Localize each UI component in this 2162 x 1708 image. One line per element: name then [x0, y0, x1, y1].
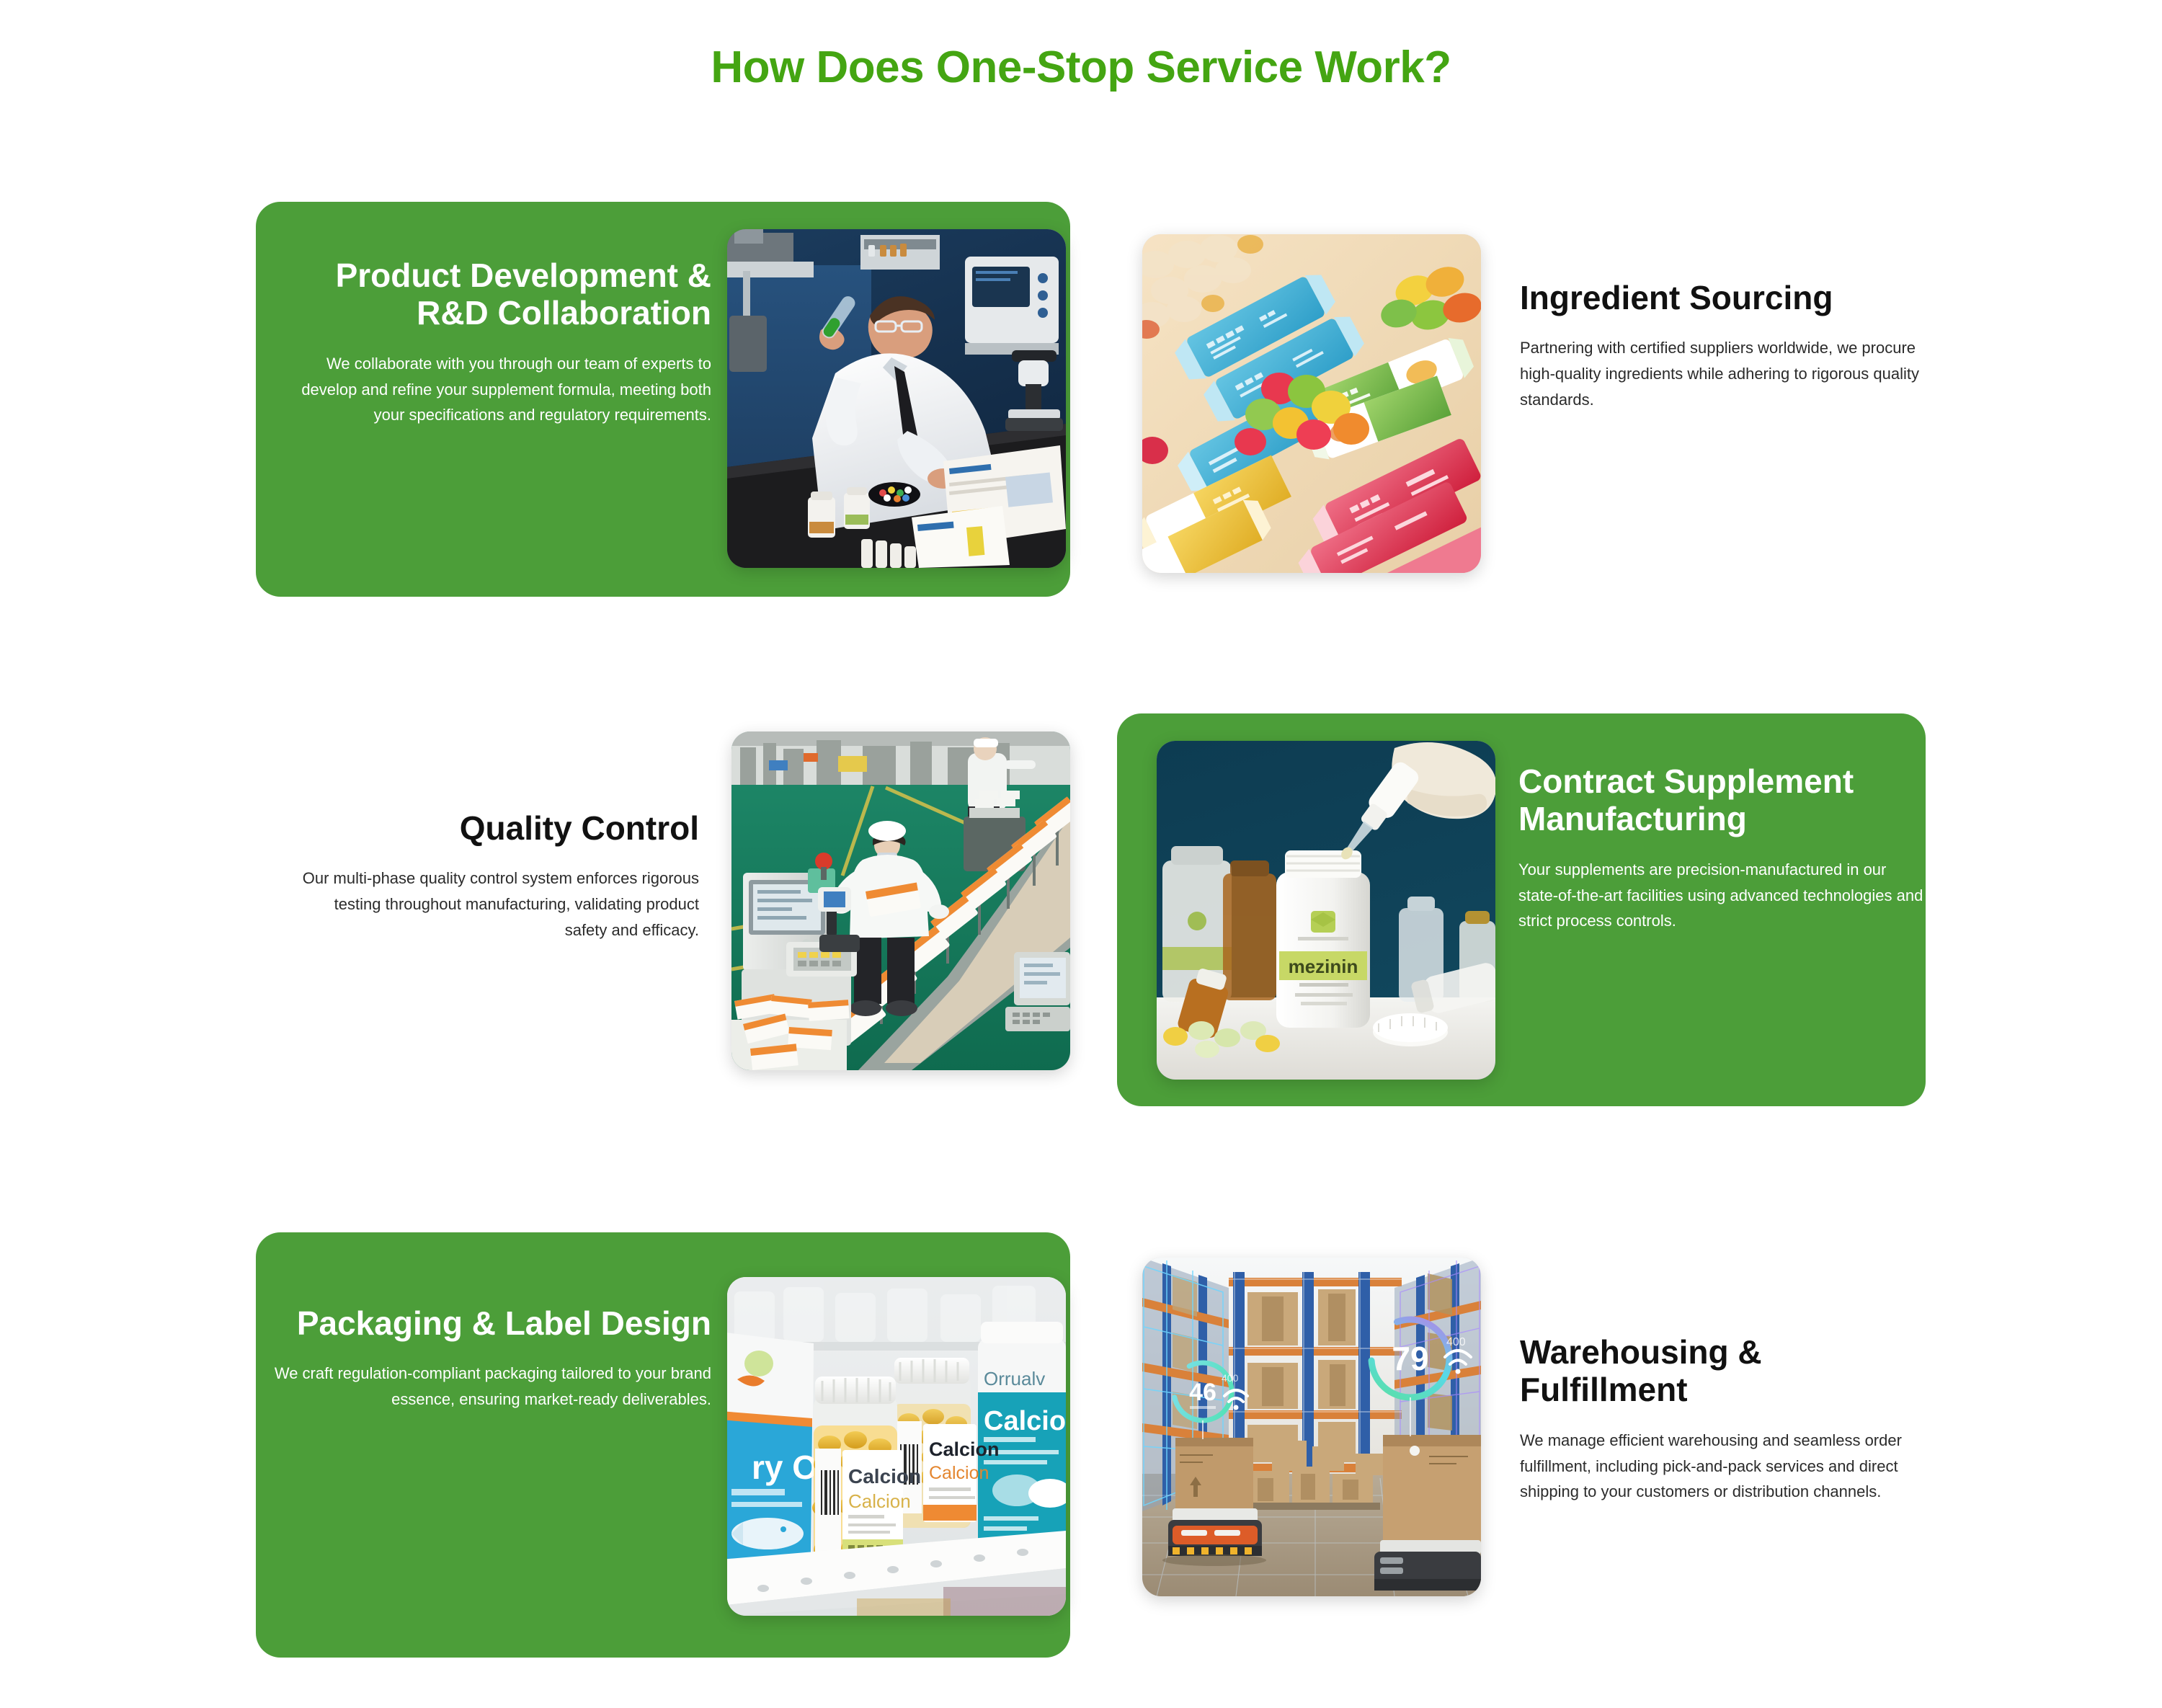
card-text-block: Warehousing & Fulfillment We manage effi…: [1520, 1333, 1931, 1505]
card-description: Your supplements are precision-manufactu…: [1518, 857, 1926, 934]
supplement-bottle-dropper-photo: mezinin: [1157, 741, 1495, 1080]
svg-text:Calcion: Calcion: [929, 1438, 1000, 1460]
retail-shelf-bottles-photo: ry Oil Orrualv: [727, 1277, 1066, 1616]
svg-text:400: 400: [1222, 1372, 1239, 1384]
card-description: We collaborate with you through our team…: [272, 351, 711, 428]
page-title: How Does One-Stop Service Work?: [0, 42, 2162, 93]
card-product-development[interactable]: Product Development & R&D Collaboration …: [256, 202, 1070, 597]
lab-scientist-photo: [727, 229, 1066, 568]
card-description: Partnering with certified suppliers worl…: [1520, 335, 1931, 412]
card-ingredient-sourcing[interactable]: Ingredient Sourcing Partnering with cert…: [1142, 234, 1942, 580]
card-warehousing-fulfillment[interactable]: 46 400 79 400: [1142, 1258, 1942, 1611]
factory-production-line-photo: [731, 731, 1070, 1070]
svg-text:mezinin: mezinin: [1289, 956, 1358, 977]
card-title: Warehousing & Fulfillment: [1520, 1333, 1931, 1409]
svg-text:Calcion: Calcion: [929, 1463, 989, 1483]
svg-text:Orrualv: Orrualv: [984, 1368, 1045, 1389]
svg-text:46: 46: [1189, 1379, 1216, 1406]
card-title: Contract Supplement Manufacturing: [1518, 762, 1926, 838]
card-title: Packaging & Label Design: [272, 1304, 711, 1342]
card-title: Quality Control: [288, 809, 699, 847]
card-text-block: Ingredient Sourcing Partnering with cert…: [1520, 279, 1931, 412]
svg-text:Calcion: Calcion: [848, 1465, 921, 1487]
svg-text:400: 400: [1446, 1336, 1466, 1348]
card-text-block: Quality Control Our multi-phase quality …: [288, 809, 699, 943]
card-description: We craft regulation-compliant packaging …: [272, 1361, 711, 1412]
card-contract-manufacturing[interactable]: mezinin: [1117, 713, 1926, 1106]
card-packaging-label-design[interactable]: Packaging & Label Design We craft regula…: [256, 1232, 1070, 1658]
card-description: We manage efficient warehousing and seam…: [1520, 1428, 1931, 1505]
card-title: Product Development & R&D Collaboration: [272, 257, 711, 332]
gummy-candy-packaging-photo: [1142, 234, 1481, 573]
card-quality-control[interactable]: Quality Control Our multi-phase quality …: [288, 731, 1070, 1077]
card-description: Our multi-phase quality control system e…: [288, 866, 699, 943]
one-stop-service-section: How Does One-Stop Service Work? Product …: [0, 0, 2162, 1708]
card-title: Ingredient Sourcing: [1520, 279, 1931, 316]
card-text-block: Product Development & R&D Collaboration …: [272, 257, 711, 428]
smart-warehouse-photo: 46 400 79 400: [1142, 1258, 1481, 1596]
svg-text:Calcion: Calcion: [848, 1490, 911, 1512]
card-text-block: Contract Supplement Manufacturing Your s…: [1518, 762, 1926, 934]
card-text-block: Packaging & Label Design We craft regula…: [272, 1304, 711, 1413]
svg-text:Calcion: Calcion: [984, 1406, 1066, 1436]
svg-text:79: 79: [1392, 1340, 1428, 1377]
